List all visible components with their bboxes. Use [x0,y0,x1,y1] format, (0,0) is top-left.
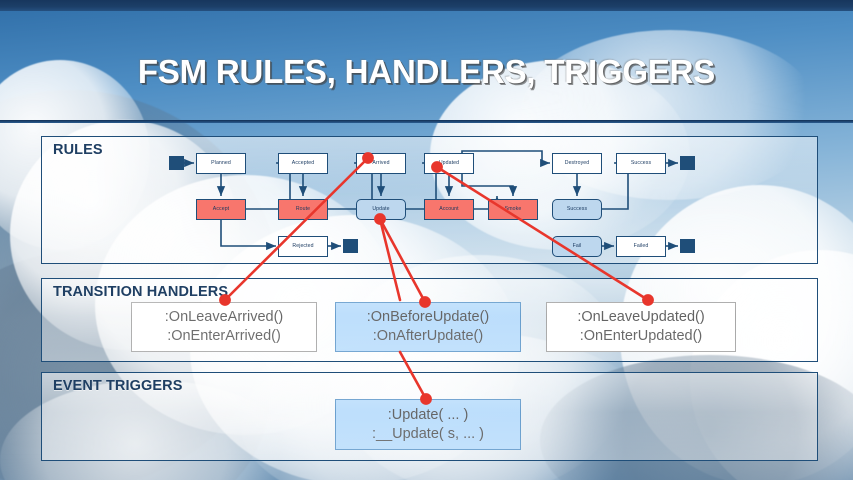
fsm-node-start [169,156,184,170]
fsm-node-destroyed[interactable]: Destroyed [552,153,602,174]
panel-rules: RULES [41,136,818,264]
fsm-node-end-success [680,156,695,170]
fsm-node-rejected[interactable]: Rejected [278,236,328,257]
fsm-node-failed[interactable]: Failed [616,236,666,257]
panel-triggers-title: EVENT TRIGGERS [53,378,183,394]
fsm-node-smoke[interactable]: Smoke [488,199,538,220]
fsm-node-accepted[interactable]: Accepted [278,153,328,174]
fsm-node-planned[interactable]: Planned [196,153,246,174]
fsm-node-update[interactable]: Update [356,199,406,220]
fsm-node-end-failed [680,239,695,253]
fsm-node-arrived[interactable]: Arrived [356,153,406,174]
fsm-node-success-action[interactable]: Success [552,199,602,220]
fsm-node-accept[interactable]: Accept [196,199,246,220]
panel-event-triggers: EVENT TRIGGERS [41,372,818,461]
page-title: FSM RULES, HANDLERS, TRIGGERS [0,53,853,91]
fsm-node-end-rejected [343,239,358,253]
top-accent-band [0,0,853,11]
fsm-node-route[interactable]: Route [278,199,328,220]
title-area: FSM RULES, HANDLERS, TRIGGERS [0,11,853,121]
fsm-node-updated[interactable]: Updated [424,153,474,174]
fsm-node-success-state[interactable]: Success [616,153,666,174]
slide-canvas: FSM RULES, HANDLERS, TRIGGERS RULES [0,0,853,480]
panel-handlers-title: TRANSITION HANDLERS [53,284,228,300]
panel-transition-handlers: TRANSITION HANDLERS [41,278,818,362]
fsm-node-fail[interactable]: Fail [552,236,602,257]
fsm-node-account[interactable]: Account [424,199,474,220]
fsm-diagram: Planned Accept Accepted Route Rejected A… [42,137,818,264]
title-divider [0,120,853,123]
